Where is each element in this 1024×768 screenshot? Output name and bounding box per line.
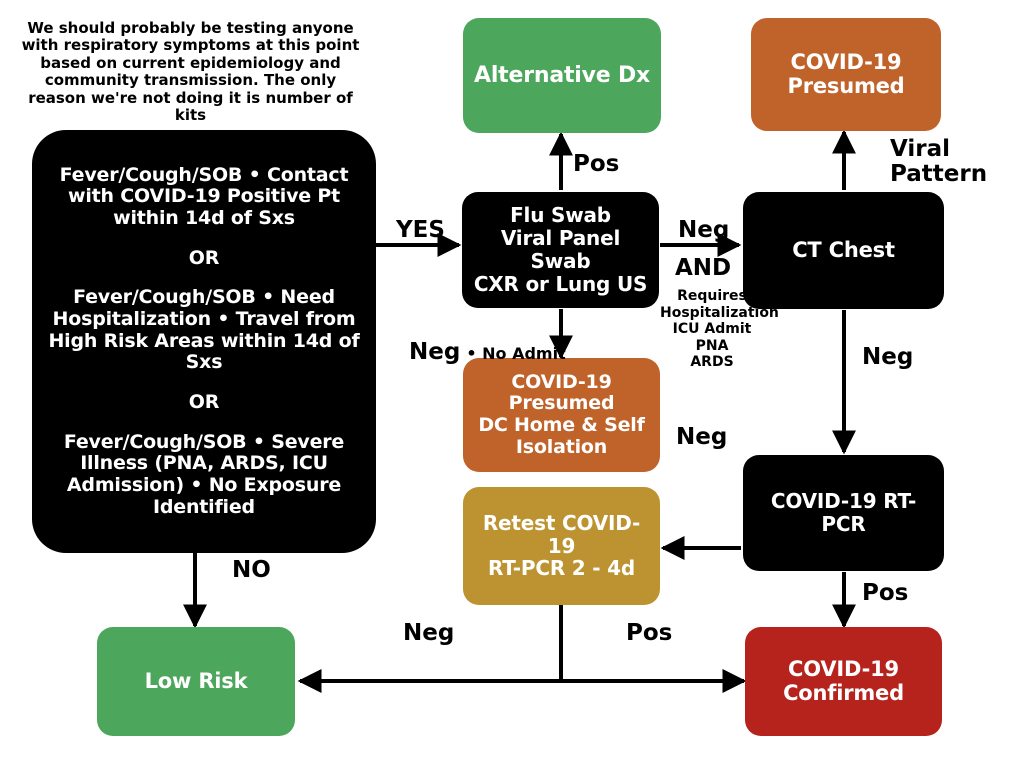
criteria-spacer-2 — [40, 269, 368, 287]
edge-label-no: NO — [232, 558, 271, 583]
flu-swab-line-3: Swab — [470, 250, 651, 273]
edge-label-neg-and: Neg — [678, 218, 729, 243]
node-criteria[interactable]: Fever/Cough/SOB • Contact with COVID-19 … — [32, 130, 376, 553]
alternative-dx-label: Alternative Dx — [471, 63, 653, 88]
criteria-spacer-3 — [40, 374, 368, 392]
covid-confirmed-line-1: COVID-19 — [753, 658, 934, 682]
criteria-line-3: Fever/Cough/SOB • Severe Illness (PNA, A… — [40, 432, 368, 519]
edge-label-and-criteria: Requires Hospitalization ICU Admit PNA A… — [660, 288, 764, 371]
low-risk-label: Low Risk — [105, 670, 287, 694]
node-retest-rt-pcr[interactable]: Retest COVID-19 RT-PCR 2 - 4d — [463, 487, 660, 605]
edge-label-neg-ct-down: Neg — [862, 345, 913, 370]
rt-pcr-line-2: PCR — [751, 513, 936, 536]
retest-line-1: Retest COVID-19 — [471, 512, 652, 558]
presumed-dc-line-3: DC Home & Self — [471, 415, 652, 437]
node-low-risk[interactable]: Low Risk — [97, 627, 295, 736]
presumed-dc-line-2: Presumed — [471, 393, 652, 415]
covid-presumed-line-2: Presumed — [759, 75, 933, 99]
flu-swab-line-2: Viral Panel — [470, 227, 651, 250]
node-covid-presumed-dc-home[interactable]: COVID-19 Presumed DC Home & Self Isolati… — [463, 358, 660, 472]
node-ct-chest[interactable]: CT Chest — [743, 192, 944, 309]
neg-no-admit-strong: Neg — [409, 339, 460, 365]
flu-swab-line-1: Flu Swab — [470, 204, 651, 227]
edge-label-yes: YES — [396, 218, 445, 243]
criteria-or-2: OR — [40, 392, 368, 414]
edge-label-and: AND — [675, 256, 731, 281]
criteria-line-1: Fever/Cough/SOB • Contact with COVID-19 … — [40, 165, 368, 230]
presumed-dc-line-1: COVID-19 — [471, 372, 652, 394]
criteria-line-2: Fever/Cough/SOB • Need Hospitalization •… — [40, 287, 368, 374]
top-note: We should probably be testing anyone wit… — [18, 20, 363, 124]
edge-label-pos-rtpcr-down: Pos — [862, 581, 908, 606]
flowchart-canvas: We should probably be testing anyone wit… — [0, 0, 1024, 768]
covid-confirmed-line-2: Confirmed — [753, 682, 934, 706]
covid-presumed-line-1: COVID-19 — [759, 51, 933, 75]
neg-no-admit-weak: • No Admit — [466, 344, 565, 363]
node-covid-presumed[interactable]: COVID-19 Presumed — [751, 18, 941, 131]
ct-chest-label: CT Chest — [751, 239, 936, 263]
criteria-spacer-4 — [40, 414, 368, 432]
node-alternative-dx[interactable]: Alternative Dx — [463, 18, 661, 133]
edge-label-pos-alternative-dx: Pos — [573, 152, 619, 177]
node-flu-swab[interactable]: Flu Swab Viral Panel Swab CXR or Lung US — [462, 192, 659, 308]
criteria-spacer-1 — [40, 230, 368, 248]
edge-label-neg-retest-left: Neg — [403, 621, 454, 646]
flu-swab-line-4: CXR or Lung US — [470, 273, 651, 296]
criteria-or-1: OR — [40, 248, 368, 270]
rt-pcr-line-1: COVID-19 RT- — [751, 490, 936, 513]
node-rt-pcr[interactable]: COVID-19 RT- PCR — [743, 455, 944, 571]
edge-label-neg-rtpcr-left: Neg — [676, 425, 727, 450]
retest-line-2: RT-PCR 2 - 4d — [471, 557, 652, 580]
edge-label-pos-retest-right: Pos — [626, 621, 672, 646]
edge-label-neg-no-admit: Neg• No Admit — [409, 315, 566, 366]
edge-label-viral-pattern: Viral Pattern — [890, 137, 985, 188]
node-covid-confirmed[interactable]: COVID-19 Confirmed — [745, 627, 942, 736]
presumed-dc-line-4: Isolation — [471, 437, 652, 459]
